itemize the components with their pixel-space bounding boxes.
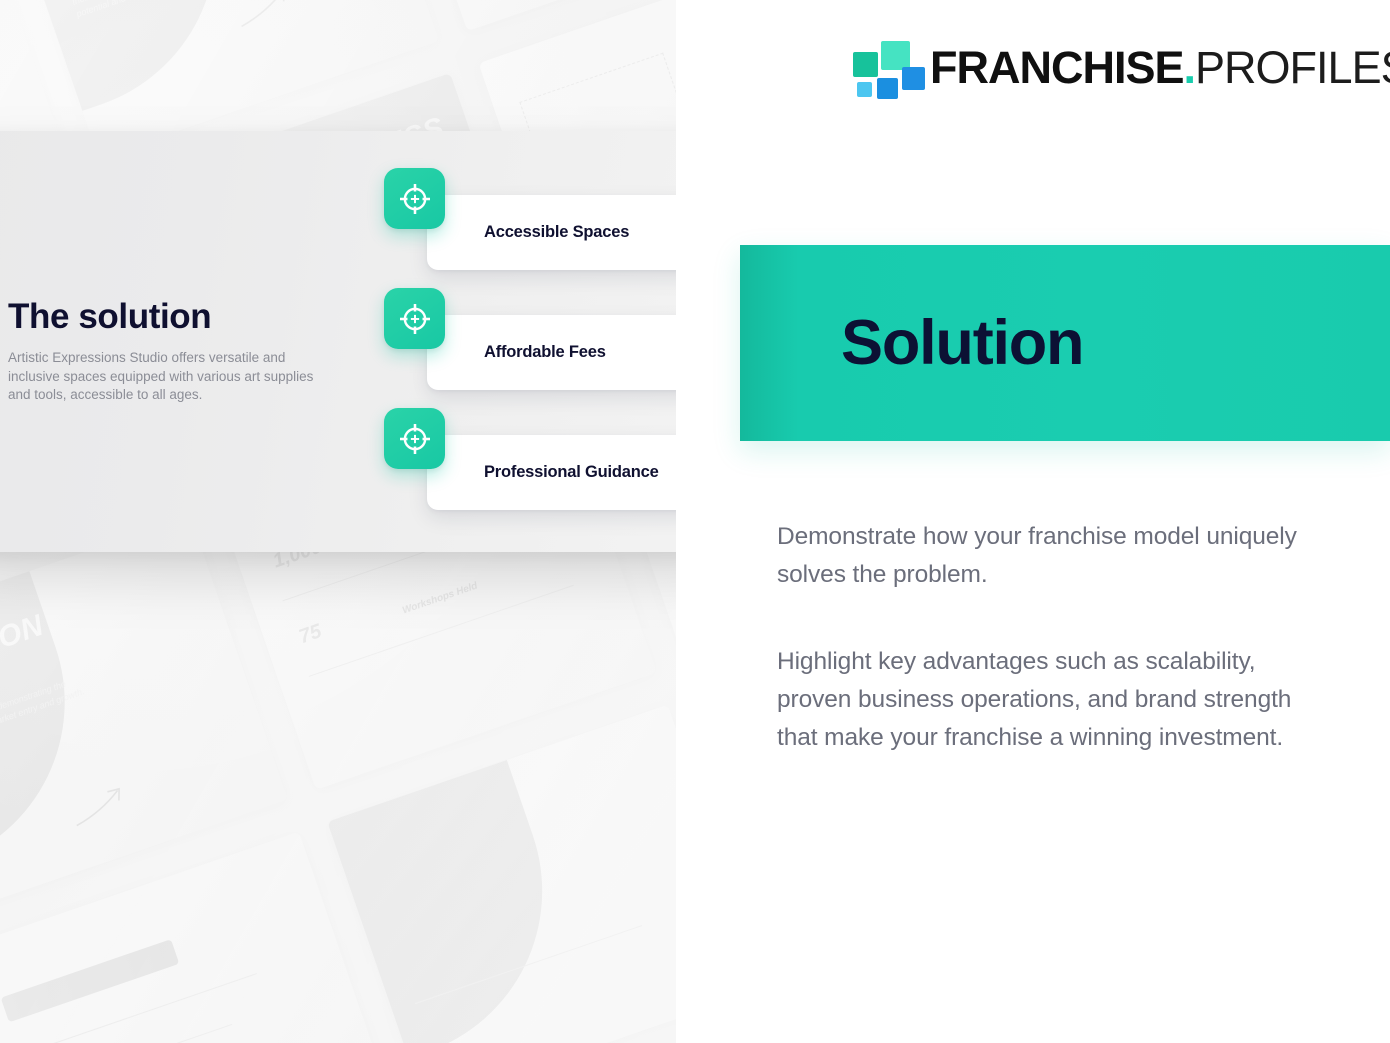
crosshair-target-icon — [384, 288, 445, 349]
crosshair-target-icon — [384, 408, 445, 469]
deck-arrow-icon — [66, 782, 134, 834]
feature-label: Affordable Fees — [484, 343, 606, 362]
preview-heading: The solution — [8, 297, 211, 337]
feature-row: Professional Guidance — [384, 408, 714, 528]
body-paragraph: Demonstrate how your franchise model uni… — [777, 518, 1307, 593]
feature-row: Accessible Spaces — [384, 168, 714, 288]
right-content-pane: FRANCHISE.PROFILES Solution Demonstrate … — [676, 0, 1390, 1043]
brand-name-light: PROFILES — [1195, 42, 1390, 93]
solution-slide-preview-card: The solution Artistic Expressions Studio… — [0, 131, 738, 552]
deck-stat-value: 75 — [296, 620, 325, 649]
feature-list: Accessible Spaces — [384, 168, 714, 528]
section-title-band: Solution — [740, 245, 1390, 441]
feature-label: Professional Guidance — [484, 463, 659, 482]
feature-label: Accessible Spaces — [484, 223, 629, 242]
feature-card[interactable]: Accessible Spaces — [427, 195, 710, 270]
preview-subtext: Artistic Expressions Studio offers versa… — [8, 349, 320, 405]
feature-card[interactable]: Affordable Fees — [427, 315, 710, 390]
brand-wordmark: FRANCHISE.PROFILES — [930, 45, 1390, 90]
deck-arrow-icon — [231, 0, 299, 35]
body-paragraph: Highlight key advantages such as scalabi… — [777, 643, 1307, 756]
brand-name-bold: FRANCHISE — [930, 42, 1184, 93]
five-squares-logo-mark-icon — [852, 38, 908, 96]
deck-stat-label: Workshops Held — [401, 580, 479, 616]
feature-row: Affordable Fees — [384, 288, 714, 408]
body-copy: Demonstrate how your franchise model uni… — [777, 518, 1307, 757]
crosshair-target-icon — [384, 168, 445, 229]
page-title: Solution — [841, 312, 1083, 375]
brand-dot: . — [1184, 42, 1196, 93]
brand-logo: FRANCHISE.PROFILES — [852, 38, 1390, 96]
slide-canvas: Pitch deck THE PROBLEM Many individuals … — [0, 0, 1390, 1043]
